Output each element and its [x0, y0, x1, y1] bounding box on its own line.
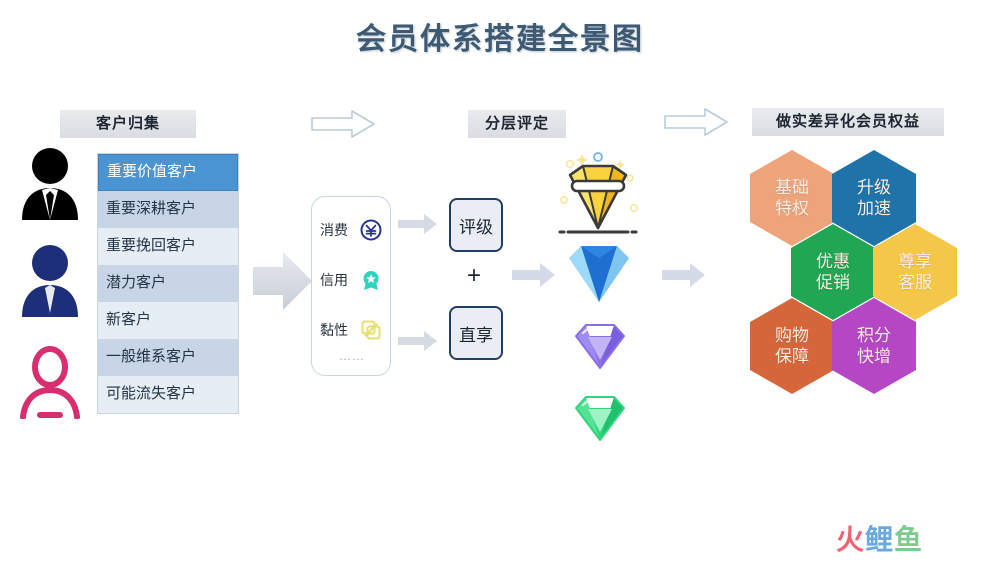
watermark-char-2: 鲤 — [865, 523, 894, 556]
flow-arrow-small-icon — [662, 262, 706, 293]
person-outline-pink-icon — [14, 345, 86, 424]
section-header-tier-assessment: 分层评定 — [468, 110, 566, 138]
section-header-customer-aggregation: 客户归集 — [60, 110, 196, 138]
benefit-label: 购物 保障 — [775, 325, 809, 367]
attribute-row-stickiness: 黏性 — [312, 313, 392, 347]
member-attribute-card: 消费 信用 黏性 — [311, 196, 391, 376]
list-item[interactable]: 可能流失客户 — [98, 376, 238, 413]
watermark-logo: 火鲤鱼 — [836, 518, 923, 558]
watermark-char-3: 鱼 — [894, 523, 923, 556]
section-header-member-benefits: 做实差异化会员权益 — [752, 108, 944, 136]
benefit-label: 基础 特权 — [775, 177, 809, 219]
gold-diamond-icon — [548, 148, 648, 245]
plus-operator: + — [449, 262, 499, 290]
customer-segment-list: 重要价值客户 重要深耕客户 重要挽回客户 潜力客户 新客户 一般维系客户 可能流… — [97, 153, 239, 414]
watermark-char-1: 火 — [836, 523, 865, 556]
attribute-row-consumption: 消费 — [312, 213, 392, 247]
benefit-label-line1: 优惠 — [816, 251, 850, 272]
benefit-label: 升级 加速 — [857, 177, 891, 219]
attribute-more-dots: …… — [312, 349, 392, 363]
hollow-arrow-icon — [310, 108, 376, 145]
credit-medal-icon — [358, 269, 384, 291]
yen-coin-icon — [358, 219, 384, 241]
benefit-label-line1: 升级 — [857, 177, 891, 198]
flow-arrow-small-icon — [398, 213, 438, 240]
grade-box-rating[interactable]: 评级 — [449, 198, 503, 252]
benefit-label-line2: 特权 — [775, 198, 809, 219]
benefit-label-line2: 快增 — [857, 346, 891, 367]
benefit-label-line1: 尊享 — [898, 251, 932, 272]
page-title: 会员体系搭建全景图 — [0, 14, 1000, 58]
benefit-label: 尊享 客服 — [898, 251, 932, 293]
benefit-label: 优惠 促销 — [816, 251, 850, 293]
stickiness-squares-icon — [358, 319, 384, 341]
list-item[interactable]: 重要价值客户 — [98, 154, 238, 191]
flow-arrow-large-icon — [253, 250, 313, 317]
list-item[interactable]: 新客户 — [98, 302, 238, 339]
benefit-label-line1: 基础 — [775, 177, 809, 198]
benefit-label: 积分 快增 — [857, 325, 891, 367]
benefit-label-line1: 积分 — [857, 325, 891, 346]
person-navy-icon — [14, 243, 86, 322]
attribute-label: 消费 — [312, 220, 358, 240]
attribute-row-credit: 信用 — [312, 263, 392, 297]
benefit-label-line1: 购物 — [775, 325, 809, 346]
benefits-hex-grid: 基础 特权 升级 加速 优惠 促销 尊享 客服 购物 保障 — [750, 150, 950, 398]
attribute-label: 信用 — [312, 270, 358, 290]
flow-arrow-small-icon — [398, 330, 438, 357]
flow-arrow-small-icon — [512, 262, 556, 293]
grade-box-direct-enjoy[interactable]: 直享 — [449, 306, 503, 360]
diagram-canvas: 会员体系搭建全景图 客户归集 分层评定 做实差异化会员权益 — [0, 0, 1000, 562]
businessman-black-icon — [14, 146, 86, 225]
benefit-label-line2: 保障 — [775, 346, 809, 367]
list-item[interactable]: 一般维系客户 — [98, 339, 238, 376]
attribute-label: 黏性 — [312, 320, 358, 340]
list-item[interactable]: 潜力客户 — [98, 265, 238, 302]
list-item[interactable]: 重要深耕客户 — [98, 191, 238, 228]
green-diamond-icon — [572, 392, 628, 447]
benefit-label-line2: 加速 — [857, 198, 891, 219]
list-item[interactable]: 重要挽回客户 — [98, 228, 238, 265]
purple-diamond-icon — [572, 320, 628, 375]
blue-diamond-icon — [563, 240, 635, 309]
benefit-label-line2: 客服 — [898, 272, 932, 293]
hollow-arrow-icon — [663, 106, 729, 143]
benefit-label-line2: 促销 — [816, 272, 850, 293]
